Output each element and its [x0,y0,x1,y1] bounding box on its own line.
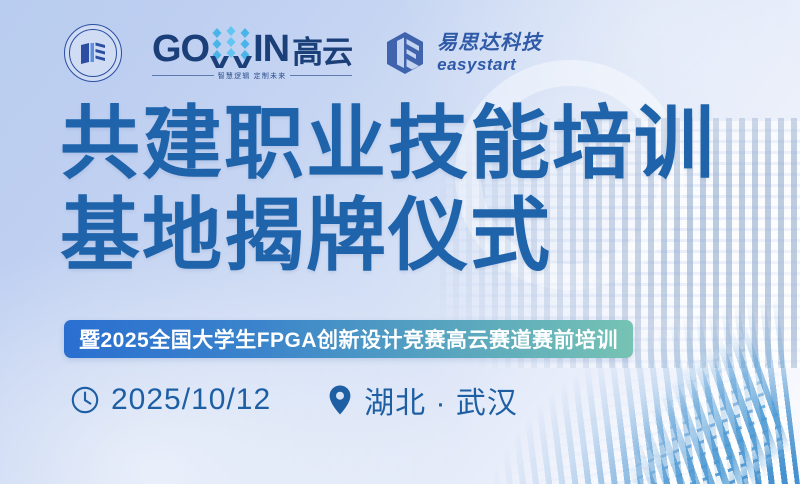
easystart-text: 易思达科技 easystart [437,33,542,73]
easystart-logo: 易思达科技 easystart [382,30,542,76]
event-meta-row: 2025/10/12 湖北 · 武汉 [70,378,518,422]
event-date: 2025/10/12 [70,383,271,417]
gowin-tagline: 智慧逻辑 定制未来 [152,71,352,81]
easystart-text-en: easystart [437,56,542,73]
subtitle-banner: 暨2025全国大学生FPGA创新设计竞赛高云赛道赛前培训 [64,320,633,358]
event-location-text: 湖北 · 武汉 [364,378,518,422]
page-title: 共建职业技能培训 基地揭牌仪式 [60,98,716,282]
location-pin-icon [327,384,353,416]
clock-icon [70,385,100,415]
title-line-2: 基地揭牌仪式 [60,190,716,282]
logo-row: GO [64,22,542,84]
gowin-w-diamond-icon [208,26,254,68]
gowin-text-right: IN [253,30,289,68]
gowin-text-cn: 高云 [292,37,352,68]
gowin-logo: GO [152,26,352,81]
gowin-wordmark: GO [152,26,352,68]
event-date-text: 2025/10/12 [111,383,271,417]
tagline-rule-left [152,75,214,76]
poster-canvas: GO [0,0,800,484]
tagline-rule-right [290,75,352,76]
seal-book-icon [78,40,108,66]
easystart-hex-e-icon [382,30,428,76]
subtitle-text: 暨2025全国大学生FPGA创新设计竞赛高云赛道赛前培训 [79,324,618,354]
university-seal-logo [64,24,122,82]
gowin-tagline-text: 智慧逻辑 定制未来 [218,71,287,81]
event-location: 湖北 · 武汉 [327,378,518,422]
easystart-text-cn: 易思达科技 [437,33,542,53]
gowin-text-left: GO [152,30,209,68]
title-line-1: 共建职业技能培训 [60,98,716,190]
